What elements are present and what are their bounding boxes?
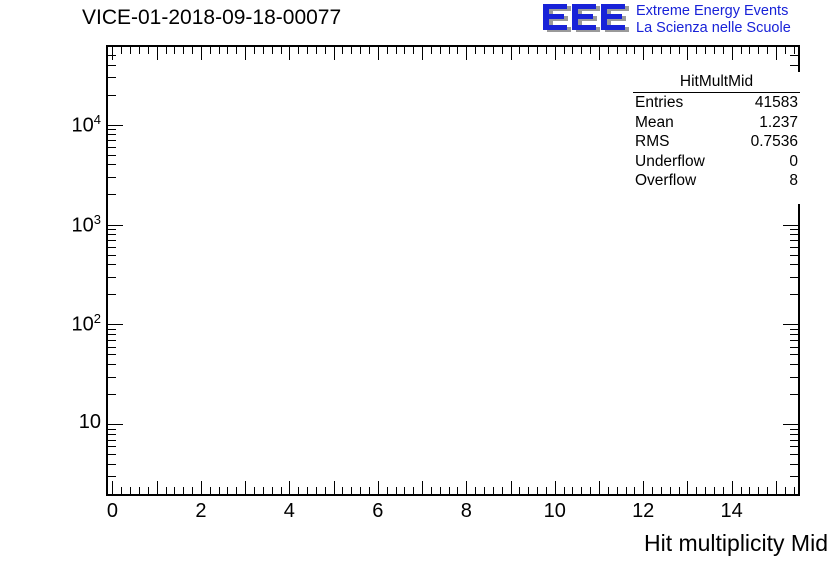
x-tick-minor [307, 487, 308, 494]
x-tick-label: 10 [544, 500, 566, 523]
x-tick-major [555, 481, 556, 494]
stat-rows: Entries41583Mean1.237RMS0.7536Underflow0… [633, 93, 800, 191]
stat-value: 1.237 [759, 113, 798, 133]
x-tick-top [732, 47, 733, 60]
x-tick-top [475, 47, 476, 54]
x-tick-minor [360, 487, 361, 494]
x-tick-top [404, 47, 405, 54]
stat-key: RMS [635, 132, 669, 152]
stat-key: Underflow [635, 152, 705, 172]
x-tick-top [227, 47, 228, 54]
y-tick-right [783, 424, 798, 425]
x-tick-minor [272, 487, 273, 494]
x-tick-minor [528, 487, 529, 494]
x-axis-title: Hit multiplicity Mid [644, 530, 828, 557]
y-tick-right [790, 440, 798, 441]
x-tick-minor [254, 487, 255, 494]
x-tick-top [466, 47, 467, 60]
stat-row: RMS0.7536 [633, 132, 800, 152]
x-tick-top [387, 47, 388, 54]
x-tick-minor [431, 487, 432, 494]
y-tick-minor [108, 446, 116, 447]
x-tick-top [484, 47, 485, 54]
x-tick-minor [219, 487, 220, 494]
x-tick-minor [749, 487, 750, 494]
x-tick-minor [723, 487, 724, 494]
y-tick-minor [108, 55, 116, 56]
x-tick-minor [617, 487, 618, 494]
x-tick-top [289, 47, 290, 60]
x-tick-major [466, 481, 467, 494]
x-tick-top [396, 47, 397, 54]
x-tick-minor [767, 487, 768, 494]
y-tick-minor [108, 429, 116, 430]
logo-line-1: Extreme Energy Events [636, 3, 791, 20]
y-tick-minor [108, 164, 116, 165]
x-tick-top [440, 47, 441, 54]
x-tick-minor [281, 487, 282, 494]
x-tick-top [166, 47, 167, 54]
x-tick-top [572, 47, 573, 54]
y-tick-right [790, 429, 798, 430]
x-tick-top [590, 47, 591, 54]
y-tick-minor [108, 140, 116, 141]
x-tick-top [360, 47, 361, 54]
y-tick-minor [108, 65, 116, 66]
x-tick-top [422, 47, 423, 60]
x-tick-top [263, 47, 264, 54]
y-tick-major [108, 424, 123, 425]
x-tick-top [254, 47, 255, 54]
y-tick-minor [108, 464, 116, 465]
x-tick-top [431, 47, 432, 54]
x-tick-top [785, 47, 786, 54]
logo-line-2: La Scienza nelle Scuole [636, 20, 791, 37]
x-tick-minor [572, 487, 573, 494]
x-tick-major [776, 481, 777, 494]
y-tick-right [783, 225, 798, 226]
y-tick-minor [108, 194, 116, 195]
x-tick-top [617, 47, 618, 54]
y-tick-minor [108, 340, 116, 341]
x-tick-top [511, 47, 512, 60]
x-tick-top [281, 47, 282, 54]
y-tick-minor [108, 240, 116, 241]
x-tick-major [157, 481, 158, 494]
y-tick-right [790, 364, 798, 365]
x-tick-top [236, 47, 237, 54]
x-tick-minor [449, 487, 450, 494]
x-tick-top [210, 47, 211, 54]
x-tick-minor [342, 487, 343, 494]
x-tick-minor [696, 487, 697, 494]
x-tick-top [298, 47, 299, 54]
x-tick-minor [183, 487, 184, 494]
x-tick-top [157, 47, 158, 60]
stat-row: Mean1.237 [633, 113, 800, 133]
x-tick-minor [493, 487, 494, 494]
x-tick-top [378, 47, 379, 60]
y-tick-right [790, 255, 798, 256]
y-tick-minor [108, 334, 116, 335]
x-tick-top [776, 47, 777, 60]
y-tick-minor [108, 155, 116, 156]
y-tick-right [790, 55, 798, 56]
x-tick-minor [564, 487, 565, 494]
stat-title: HitMultMid [633, 72, 800, 92]
stat-value: 8 [789, 171, 798, 191]
x-tick-top [687, 47, 688, 60]
x-tick-minor [192, 487, 193, 494]
x-tick-minor [634, 487, 635, 494]
y-tick-minor [108, 329, 116, 330]
y-tick-right [790, 340, 798, 341]
x-tick-minor [440, 487, 441, 494]
stat-key: Overflow [635, 171, 696, 191]
x-tick-top [670, 47, 671, 54]
x-tick-minor [263, 487, 264, 494]
y-tick-right [790, 476, 798, 477]
x-tick-top [449, 47, 450, 54]
x-tick-label: 2 [195, 500, 206, 523]
x-tick-top [413, 47, 414, 54]
x-tick-minor [679, 487, 680, 494]
y-tick-minor [108, 476, 116, 477]
x-tick-top [369, 47, 370, 54]
x-tick-top [174, 47, 175, 54]
x-tick-top [546, 47, 547, 54]
x-tick-minor [396, 487, 397, 494]
y-tick-right [790, 329, 798, 330]
y-tick-right [790, 394, 798, 395]
x-tick-top [537, 47, 538, 54]
x-tick-minor [227, 487, 228, 494]
x-tick-top [705, 47, 706, 54]
x-tick-top [121, 47, 122, 54]
x-tick-minor [519, 487, 520, 494]
y-tick-right [790, 434, 798, 435]
x-tick-label: 12 [632, 500, 654, 523]
y-tick-minor [108, 77, 116, 78]
x-tick-top [767, 47, 768, 54]
x-tick-top [493, 47, 494, 54]
x-tick-top [661, 47, 662, 54]
x-tick-label: 6 [372, 500, 383, 523]
x-tick-minor [316, 487, 317, 494]
y-tick-minor [108, 147, 116, 148]
x-tick-minor [608, 487, 609, 494]
x-tick-minor [121, 487, 122, 494]
y-tick-right [790, 354, 798, 355]
x-tick-top [679, 47, 680, 54]
stat-row: Underflow0 [633, 152, 800, 172]
x-tick-minor [475, 487, 476, 494]
x-tick-minor [130, 487, 131, 494]
y-tick-minor [108, 294, 116, 295]
x-tick-minor [794, 487, 795, 494]
x-tick-label: 4 [284, 500, 295, 523]
x-tick-minor [670, 487, 671, 494]
x-tick-top [334, 47, 335, 60]
x-tick-minor [758, 487, 759, 494]
x-tick-top [643, 47, 644, 60]
stat-key: Entries [635, 93, 683, 113]
y-tick-right [790, 446, 798, 447]
x-tick-top [201, 47, 202, 60]
y-tick-minor [108, 234, 116, 235]
x-tick-minor [714, 487, 715, 494]
x-tick-top [130, 47, 131, 54]
x-tick-minor [581, 487, 582, 494]
y-tick-right [790, 229, 798, 230]
x-tick-top [219, 47, 220, 54]
x-tick-major [599, 481, 600, 494]
y-tick-right [790, 294, 798, 295]
x-tick-minor [413, 487, 414, 494]
x-tick-minor [741, 487, 742, 494]
x-tick-minor [546, 487, 547, 494]
x-tick-major [201, 481, 202, 494]
x-tick-minor [166, 487, 167, 494]
x-tick-major [289, 481, 290, 494]
x-tick-top [457, 47, 458, 54]
x-tick-label: 8 [461, 500, 472, 523]
eee-logo: Extreme Energy Events La Scienza nelle S… [540, 2, 836, 38]
x-tick-top [272, 47, 273, 54]
logo-text: Extreme Energy Events La Scienza nelle S… [636, 3, 791, 36]
y-tick-minor [108, 247, 116, 248]
y-tick-right [790, 454, 798, 455]
chart-page: VICE-01-2018-09-18-00077 Extreme Energy … [0, 0, 836, 572]
x-tick-minor [484, 487, 485, 494]
x-tick-minor [502, 487, 503, 494]
x-tick-minor [387, 487, 388, 494]
y-tick-right [790, 65, 798, 66]
y-tick-label: 102 [72, 311, 101, 337]
y-tick-right [790, 277, 798, 278]
x-tick-minor [652, 487, 653, 494]
y-tick-minor [108, 454, 116, 455]
x-tick-label: 14 [721, 500, 743, 523]
statistics-box: HitMultMid Entries41583Mean1.237RMS0.753… [633, 72, 800, 204]
x-tick-top [342, 47, 343, 54]
x-tick-top [794, 47, 795, 54]
x-tick-minor [661, 487, 662, 494]
x-tick-major [334, 481, 335, 494]
x-tick-minor [351, 487, 352, 494]
y-tick-right [790, 377, 798, 378]
y-tick-label: 103 [72, 212, 101, 238]
y-tick-minor [108, 394, 116, 395]
x-tick-top [581, 47, 582, 54]
y-tick-major [108, 125, 123, 126]
y-tick-minor [108, 364, 116, 365]
x-tick-label: 0 [107, 500, 118, 523]
x-tick-minor [325, 487, 326, 494]
x-tick-top [564, 47, 565, 54]
x-tick-top [555, 47, 556, 60]
x-tick-minor [148, 487, 149, 494]
y-tick-minor [108, 134, 116, 135]
x-tick-top [148, 47, 149, 54]
y-tick-major [108, 324, 123, 325]
x-tick-major [245, 481, 246, 494]
x-tick-top [723, 47, 724, 54]
x-tick-minor [236, 487, 237, 494]
y-tick-right [790, 234, 798, 235]
x-tick-top [714, 47, 715, 54]
x-tick-minor [298, 487, 299, 494]
x-tick-top [626, 47, 627, 54]
x-tick-major [643, 481, 644, 494]
x-tick-minor [139, 487, 140, 494]
stat-row: Entries41583 [633, 93, 800, 113]
x-tick-minor [369, 487, 370, 494]
x-tick-major [422, 481, 423, 494]
x-tick-top [749, 47, 750, 54]
x-tick-minor [705, 487, 706, 494]
x-tick-major [732, 481, 733, 494]
x-tick-top [139, 47, 140, 54]
x-tick-minor [785, 487, 786, 494]
y-tick-minor [108, 277, 116, 278]
x-tick-top [741, 47, 742, 54]
x-tick-major [112, 481, 113, 494]
y-tick-right [783, 324, 798, 325]
y-tick-right [790, 264, 798, 265]
x-tick-major [378, 481, 379, 494]
x-tick-top [758, 47, 759, 54]
x-tick-major [511, 481, 512, 494]
x-tick-major [687, 481, 688, 494]
x-tick-minor [457, 487, 458, 494]
stat-value: 0.7536 [751, 132, 798, 152]
x-tick-top [634, 47, 635, 54]
x-tick-top [652, 47, 653, 54]
page-title: VICE-01-2018-09-18-00077 [82, 6, 341, 30]
y-tick-minor [108, 129, 116, 130]
stat-key: Mean [635, 113, 674, 133]
stat-value: 0 [789, 152, 798, 172]
x-tick-top [519, 47, 520, 54]
x-tick-minor [404, 487, 405, 494]
x-tick-minor [626, 487, 627, 494]
x-tick-top [316, 47, 317, 54]
stat-value: 41583 [755, 93, 798, 113]
y-tick-minor [108, 255, 116, 256]
y-tick-label: 104 [72, 112, 101, 138]
x-tick-minor [590, 487, 591, 494]
x-tick-top [528, 47, 529, 54]
y-tick-minor [108, 347, 116, 348]
y-tick-right [790, 334, 798, 335]
y-tick-label: 10 [79, 411, 101, 434]
x-tick-top [502, 47, 503, 54]
x-tick-minor [174, 487, 175, 494]
x-tick-top [608, 47, 609, 54]
y-tick-minor [108, 377, 116, 378]
y-tick-minor [108, 229, 116, 230]
y-tick-minor [108, 440, 116, 441]
y-tick-minor [108, 177, 116, 178]
y-tick-right [790, 347, 798, 348]
x-tick-minor [537, 487, 538, 494]
x-tick-top [112, 47, 113, 60]
y-tick-right [790, 464, 798, 465]
y-tick-right [790, 240, 798, 241]
x-tick-top [599, 47, 600, 60]
stat-row: Overflow8 [633, 171, 800, 191]
x-tick-top [183, 47, 184, 54]
x-tick-top [696, 47, 697, 54]
y-tick-right [790, 247, 798, 248]
x-tick-minor [210, 487, 211, 494]
y-tick-minor [108, 434, 116, 435]
y-tick-minor [108, 95, 116, 96]
x-tick-top [192, 47, 193, 54]
eee-logo-mark [540, 2, 632, 36]
x-tick-top [307, 47, 308, 54]
y-tick-minor [108, 264, 116, 265]
x-tick-top [351, 47, 352, 54]
x-tick-top [325, 47, 326, 54]
y-tick-minor [108, 354, 116, 355]
x-tick-top [245, 47, 246, 60]
y-tick-major [108, 225, 123, 226]
